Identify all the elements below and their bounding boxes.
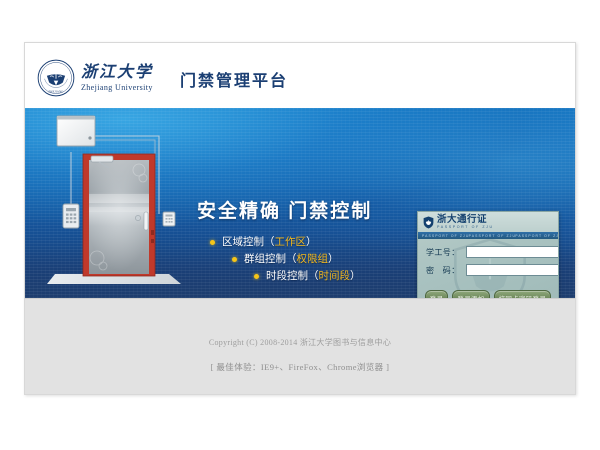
login-add-button[interactable]: 登录添加 [452, 290, 489, 298]
access-control-door-illustration [39, 108, 199, 298]
password-row: 密 码： [426, 264, 550, 276]
feature-text-highlight: 工作区 [275, 234, 307, 251]
university-name-en: Zhejiang University [81, 83, 153, 93]
login-button-group: 登录 登录添加 校园卡密码登录 [418, 290, 558, 298]
university-name-cn: 浙江大学 [81, 64, 153, 82]
login-form: 学工号： 密 码： [418, 239, 558, 282]
feature-text-after: ） [350, 268, 361, 285]
feature-text-after: ） [306, 234, 317, 251]
strip-text: PASSPORT OF ZJU [418, 234, 465, 238]
password-label: 密 码： [426, 265, 466, 276]
feature-item-time-control: 时段控制（ 时间段 ） [210, 268, 425, 285]
username-input[interactable] [466, 246, 559, 258]
bullet-dot-icon [232, 257, 237, 262]
feature-text-highlight: 时间段 [319, 268, 351, 285]
site-footer: Copyright (C) 2008-2014 浙江大学图书与信息中心 [ 最佳… [25, 298, 575, 395]
footer-copyright: Copyright (C) 2008-2014 浙江大学图书与信息中心 [25, 337, 575, 348]
login-panel-title-cn: 浙大通行证 [437, 215, 494, 225]
feature-text-highlight: 权限组 [297, 251, 329, 268]
login-panel-titles: 浙大通行证 PASSPORT OF ZJU [437, 215, 494, 230]
feature-item-group-control: 群组控制（ 权限组 ） [210, 251, 425, 268]
feature-text-before: 时段控制（ [266, 268, 319, 285]
username-label: 学工号： [426, 247, 466, 258]
login-panel-header: 浙大通行证 PASSPORT OF ZJU [418, 212, 558, 232]
login-panel-title-en: PASSPORT OF ZJU [437, 226, 494, 230]
login-button[interactable]: 登录 [425, 290, 449, 298]
university-name-block: 浙江大学 Zhejiang University [81, 64, 153, 93]
feature-item-area-control: 区域控制（ 工作区 ） [210, 234, 425, 251]
page-root: ZHEJIANG 浙江大学 Zhejiang University 门禁管理平台 [0, 0, 600, 450]
login-panel: 浙大通行证 PASSPORT OF ZJU PASSPORT OF ZJU PA… [417, 211, 559, 298]
banner-headline: 安全精确 门禁控制 [197, 196, 372, 223]
password-input[interactable] [466, 264, 559, 276]
bullet-dot-icon [254, 274, 259, 279]
username-row: 学工号： [426, 246, 550, 258]
feature-text-after: ） [328, 251, 339, 268]
feature-text-before: 群组控制（ [244, 251, 297, 268]
hero-banner: 安全精确 门禁控制 区域控制（ 工作区 ） 群组控制（ 权限组 ） 时段控制（ [25, 108, 575, 298]
footer-browser-support: [ 最佳体验：IE9+、FireFox、Chrome浏览器 ] [25, 361, 575, 373]
site-header: ZHEJIANG 浙江大学 Zhejiang University 门禁管理平台 [25, 43, 575, 108]
login-panel-strip: PASSPORT OF ZJU PASSPORT OF ZJU PASSPORT… [418, 232, 558, 239]
campus-card-login-button[interactable]: 校园卡密码登录 [494, 290, 552, 298]
brand-logo[interactable]: ZHEJIANG 浙江大学 Zhejiang University [37, 59, 153, 97]
platform-title: 门禁管理平台 [180, 67, 288, 91]
bullet-dot-icon [210, 240, 215, 245]
banner-feature-list: 区域控制（ 工作区 ） 群组控制（ 权限组 ） 时段控制（ 时间段 ） [210, 234, 425, 285]
zju-seal-icon: ZHEJIANG [37, 59, 75, 97]
site-card: ZHEJIANG 浙江大学 Zhejiang University 门禁管理平台 [24, 42, 576, 395]
svg-text:ZHEJIANG: ZHEJIANG [49, 89, 64, 93]
feature-text-before: 区域控制（ [222, 234, 275, 251]
strip-text: PASSPORT OF ZJU [511, 234, 558, 238]
shield-icon [423, 216, 434, 229]
strip-text: PASSPORT OF ZJU [465, 234, 512, 238]
